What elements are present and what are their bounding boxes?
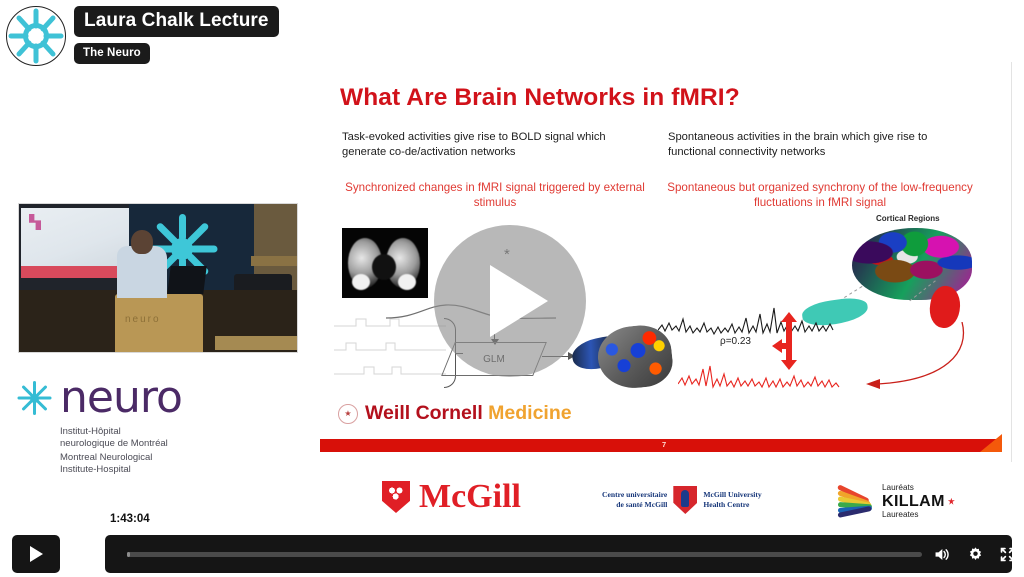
neuro-institution-logo: neuro Institut-Hôpital neurologique de M…	[16, 378, 216, 470]
neuro-subtitle-fr: Institut-Hôpital neurologique de Montréa…	[60, 426, 168, 449]
right-column-caption: Spontaneous activities in the brain whic…	[668, 130, 968, 160]
slide-title: What Are Brain Networks in fMRI?	[340, 84, 740, 112]
timeseries-black	[658, 300, 844, 338]
video-player-controls: 1:43:04	[0, 530, 1024, 577]
killam-swoosh-icon	[836, 482, 876, 520]
muhc-fr-line2: de santé McGill	[602, 500, 667, 510]
functional-connectivity-diagram: Cortical Regions ρ=0.23	[654, 212, 1002, 412]
correlation-double-arrow-icon	[772, 312, 806, 370]
muhc-shield-icon	[673, 486, 697, 514]
play-icon	[30, 546, 43, 562]
killam-name: KILLAM	[882, 493, 945, 510]
muhc-french-name: Centre universitaire de santé McGill	[602, 490, 667, 510]
speaker-video-thumbnail[interactable]	[18, 203, 298, 353]
weill-cornell-logo: ★ Weill Cornell Medicine	[338, 402, 572, 425]
killam-main-label: KILLAM	[882, 493, 955, 510]
fmri-brain-scan-image	[342, 228, 428, 298]
fullscreen-icon[interactable]	[999, 546, 1016, 563]
mcgill-wordmark: McGill	[419, 480, 521, 514]
brand-labels: Laura Chalk Lecture The Neuro	[74, 6, 279, 64]
slide-page-number: 7	[662, 440, 666, 449]
weill-cornell-wordmark: Weill Cornell Medicine	[365, 402, 572, 425]
neuro-en-line1: Montreal Neurological	[60, 452, 152, 464]
brand-overlay: Laura Chalk Lecture The Neuro	[6, 6, 279, 66]
neuro-fr-line2: neurologique de Montréal	[60, 438, 168, 450]
left-column-caption: Task-evoked activities give rise to BOLD…	[342, 130, 642, 160]
mcgill-shield-icon	[382, 481, 410, 513]
muhc-fr-line1: Centre universitaire	[602, 490, 667, 500]
wcm-secondary-text: Medicine	[488, 402, 571, 424]
slide-footer-bar: 7	[320, 439, 1002, 452]
volume-icon[interactable]	[933, 546, 950, 563]
video-player-page: Laura Chalk Lecture The Neuro	[0, 0, 1024, 577]
left-column: neuro Institut-Hôpital neurologique de M…	[0, 78, 310, 528]
design-matrix-timeseries	[334, 316, 446, 388]
speaker-head	[131, 230, 153, 254]
controls-bar	[105, 535, 1012, 573]
muhc-en-line1: McGill University	[703, 490, 761, 500]
play-overlay-button[interactable]	[434, 225, 586, 377]
connectivity-curve-arrow	[854, 322, 972, 394]
neuro-en-line2: Institute-Hospital	[60, 464, 152, 476]
muhc-en-line2: Health Centre	[703, 500, 761, 510]
presentation-slide: What Are Brain Networks in fMRI? Task-ev…	[310, 62, 1012, 462]
front-bench	[215, 336, 298, 350]
cortical-regions-label: Cortical Regions	[876, 214, 940, 223]
laptop	[167, 266, 206, 294]
neuro-snowflake-icon	[16, 380, 52, 416]
neuro-fr-line1: Institut-Hôpital	[60, 426, 168, 438]
cornell-crest-icon: ★	[338, 404, 358, 424]
mcgill-logo: McGill	[382, 480, 521, 514]
play-triangle-icon	[490, 265, 548, 337]
neuron-circle-logo-icon	[6, 6, 66, 66]
play-button[interactable]	[12, 535, 60, 573]
timeseries-red	[678, 358, 860, 394]
muhc-english-name: McGill University Health Centre	[703, 490, 761, 510]
wcm-primary-text: Weill Cornell	[365, 402, 488, 424]
killam-wordmark: Lauréats KILLAM Laureates	[882, 483, 955, 520]
progress-scrubber[interactable]	[127, 552, 922, 557]
killam-french-label: Lauréats	[882, 483, 955, 493]
killam-logo: Lauréats KILLAM Laureates	[836, 482, 955, 520]
gear-icon[interactable]	[967, 546, 984, 563]
progress-fill	[127, 552, 130, 557]
left-column-red-text: Synchronized changes in fMRI signal trig…	[340, 180, 650, 210]
muhc-logo: Centre universitaire de santé McGill McG…	[602, 486, 762, 514]
killam-maple-icon	[948, 498, 955, 505]
neuro-subtitle-en: Montreal Neurological Institute-Hospital	[60, 452, 152, 475]
killam-english-label: Laureates	[882, 510, 955, 520]
lecture-title-chip: Laura Chalk Lecture	[74, 6, 279, 37]
right-column-red-text: Spontaneous but organized synchrony of t…	[666, 180, 974, 210]
slide-corner-accent	[980, 434, 1002, 452]
bench	[251, 256, 298, 266]
projection-screen	[21, 208, 129, 278]
podium	[115, 294, 203, 352]
correlation-value-label: ρ=0.23	[720, 336, 751, 347]
organization-chip: The Neuro	[74, 43, 150, 64]
neuro-wordmark: neuro	[60, 376, 182, 420]
current-time-tooltip: 1:43:04	[104, 511, 156, 528]
